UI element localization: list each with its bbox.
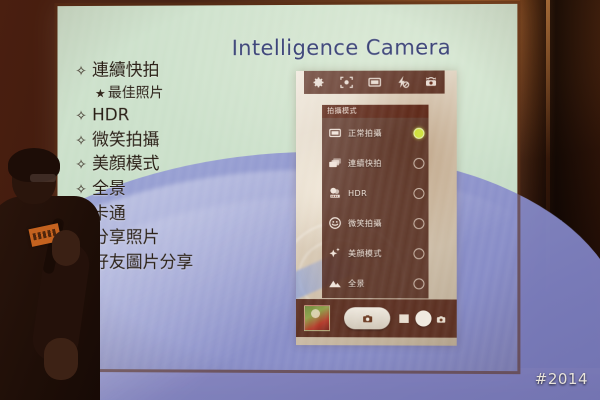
presenter-hand-lower <box>44 338 78 380</box>
list-item: ✧ HDR <box>75 104 289 127</box>
switch-camera-icon[interactable] <box>422 74 439 89</box>
menu-item-label: 連續快拍 <box>348 157 413 168</box>
phone-screenshot: 拍攝模式 正常拍攝 連續快拍 <box>296 70 457 345</box>
star-bullet-icon: ★ <box>95 86 108 102</box>
shutter-button[interactable] <box>344 307 390 329</box>
menu-title: 拍攝模式 <box>322 105 428 118</box>
menu-item-label: 全景 <box>348 278 413 289</box>
menu-item-panorama[interactable]: 全景 <box>322 268 428 298</box>
radio-button[interactable] <box>413 188 424 199</box>
burst-shot-icon <box>328 156 342 170</box>
menu-item-hdr[interactable]: HDR <box>322 178 428 208</box>
diamond-bullet-icon: ✧ <box>75 63 92 82</box>
panorama-icon <box>328 276 342 290</box>
menu-item-label: 微笑拍攝 <box>348 218 413 229</box>
camera-top-toolbar <box>304 70 445 93</box>
menu-item-beauty-mode[interactable]: 美顔模式 <box>322 238 428 268</box>
diamond-bullet-icon: ✧ <box>75 108 92 127</box>
menu-item-label: 美顔模式 <box>348 248 413 259</box>
menu-item-label: 正常拍攝 <box>348 127 413 138</box>
shooting-mode-menu: 拍攝模式 正常拍攝 連續快拍 <box>322 105 428 299</box>
hdr-icon <box>328 186 342 200</box>
list-item-label: 微笑拍攝 <box>92 129 159 152</box>
slide-title: Intelligence Camera <box>196 35 487 60</box>
diamond-bullet-icon: ✧ <box>75 132 92 151</box>
radio-button-selected[interactable] <box>413 127 424 138</box>
presenter-glasses <box>30 174 56 182</box>
video-mode-icon[interactable] <box>399 314 412 323</box>
presenter-silhouette <box>0 150 116 400</box>
menu-item-smile-shot[interactable]: 微笑拍攝 <box>322 208 428 238</box>
camera-video-toggle[interactable] <box>399 310 447 326</box>
menu-item-label: HDR <box>348 189 413 198</box>
face-detection-icon[interactable] <box>338 74 355 89</box>
list-item: ✧ 微笑拍攝 <box>75 129 289 152</box>
list-item-label: 最佳照片 <box>108 84 164 103</box>
list-item-label: HDR <box>92 105 129 128</box>
projection-screen: Intelligence Camera ✧ 連續快拍 ★ 最佳照片 ✧ HDR … <box>57 4 517 371</box>
photo-mode-icon[interactable] <box>435 313 448 324</box>
list-item-label: 連續快拍 <box>92 59 159 82</box>
settings-gear-icon[interactable] <box>310 74 327 89</box>
menu-item-burst-shot[interactable]: 連續快拍 <box>322 148 428 178</box>
list-item: ✧ 連續快拍 <box>75 59 289 82</box>
camera-icon <box>361 312 374 324</box>
menu-item-normal-shot[interactable]: 正常拍攝 <box>322 118 428 148</box>
toggle-knob[interactable] <box>415 310 431 326</box>
presenter-hand-upper <box>52 230 80 266</box>
radio-button[interactable] <box>413 157 424 168</box>
beauty-mode-icon <box>328 246 342 260</box>
camera-bottom-bar <box>296 299 457 338</box>
screenshot-root: Intelligence Camera ✧ 連續快拍 ★ 最佳照片 ✧ HDR … <box>0 0 600 400</box>
radio-button[interactable] <box>413 218 424 229</box>
radio-button[interactable] <box>413 248 424 259</box>
shooting-mode-icon[interactable] <box>366 74 383 89</box>
list-item: ★ 最佳照片 <box>75 84 289 103</box>
gallery-thumbnail[interactable] <box>304 305 330 331</box>
radio-button[interactable] <box>413 278 424 289</box>
flash-off-icon[interactable] <box>394 74 411 89</box>
smile-shot-icon <box>328 216 342 230</box>
watermark: #2014 <box>535 370 588 388</box>
normal-shot-icon <box>328 126 342 140</box>
